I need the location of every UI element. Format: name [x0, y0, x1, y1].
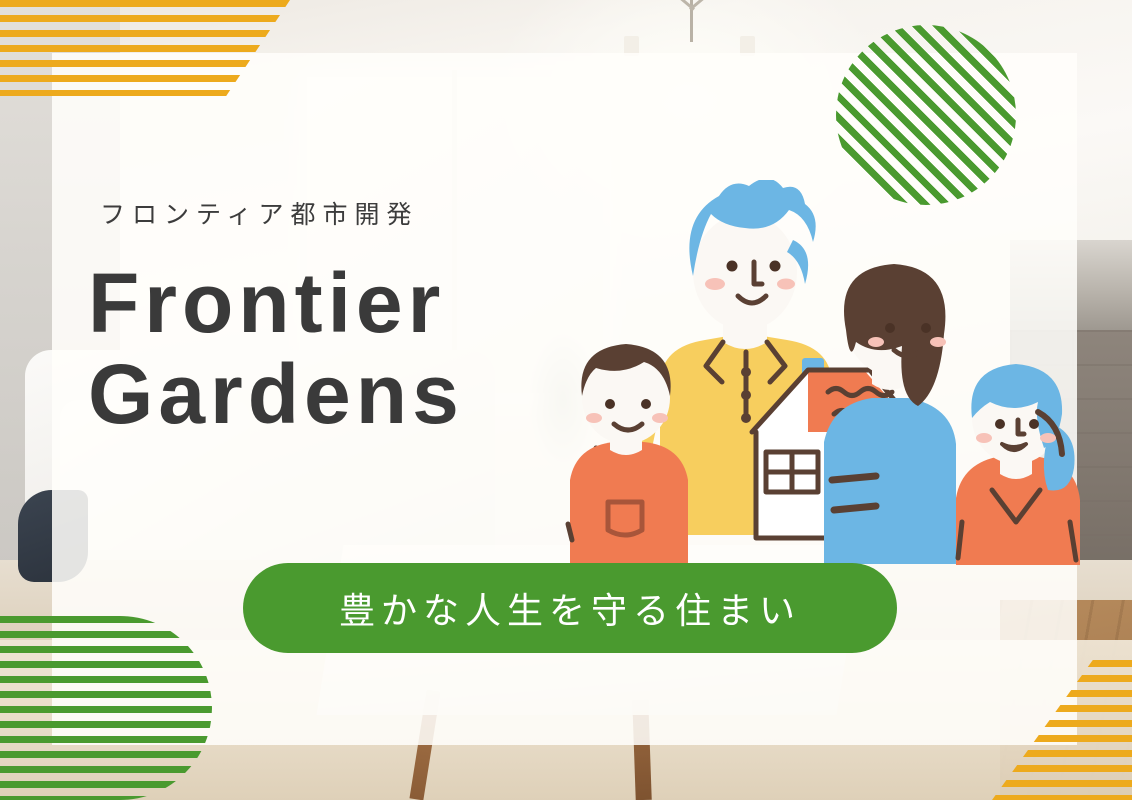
banner-content: フロンティア都市開発 Frontier Gardens 豊かな人生を守る住まい	[0, 0, 1132, 800]
page-title: Frontier Gardens	[88, 258, 464, 439]
tagline-pill-button[interactable]: 豊かな人生を守る住まい	[243, 563, 897, 653]
tagline-text: 豊かな人生を守る住まい	[339, 582, 801, 634]
company-name-eyebrow: フロンティア都市開発	[100, 195, 419, 231]
